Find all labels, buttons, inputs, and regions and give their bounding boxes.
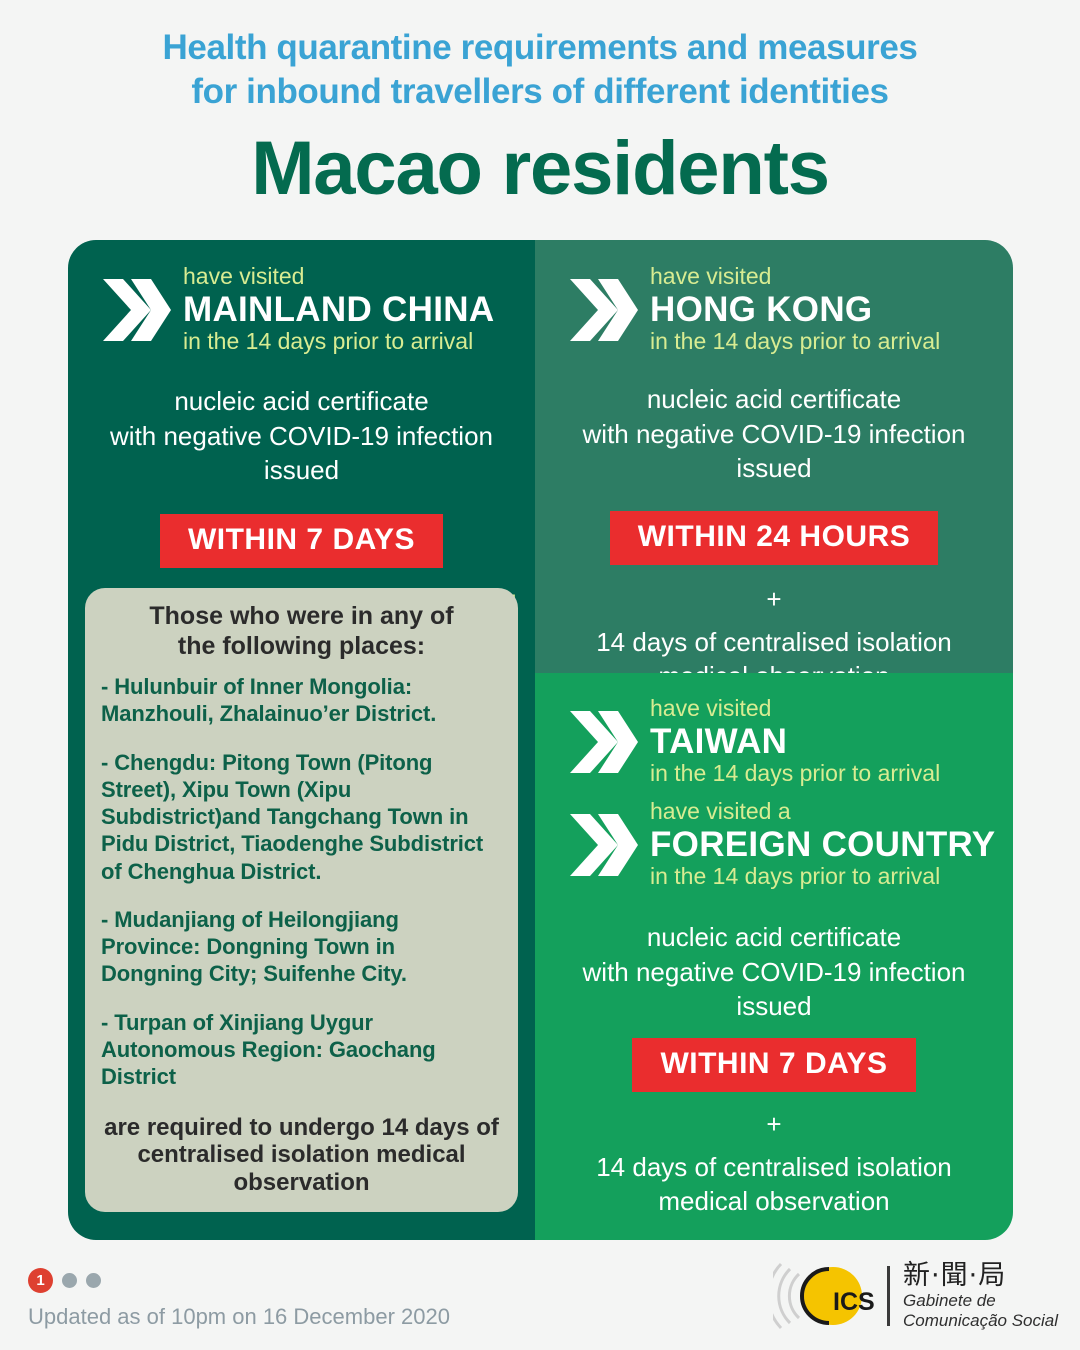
hong-kong-heading-text: have visited HONG KONG in the 14 days pr…	[650, 264, 999, 355]
mainland-china-panel: have visited MAINLAND CHINA in the 14 da…	[68, 240, 535, 1240]
requirement-line-2: with negative COVID-19 infection	[573, 955, 975, 990]
foreign-country-heading-text: have visited a FOREIGN COUNTRY in the 14…	[650, 799, 999, 890]
affected-places-list: - Hulunbuir of Inner Mongolia: Manzhouli…	[101, 673, 502, 1114]
logo-divider	[887, 1266, 890, 1326]
right-column: have visited HONG KONG in the 14 days pr…	[535, 240, 1013, 1240]
extra-line-2: medical observation	[573, 1184, 975, 1219]
svg-text:ICS: ICS	[833, 1288, 875, 1316]
foreign-country-heading: have visited a FOREIGN COUNTRY in the 14…	[535, 787, 1013, 890]
hong-kong-timeframe: in the 14 days prior to arrival	[650, 329, 999, 355]
requirement-line-3: issued	[573, 451, 975, 486]
taiwan-destination: TAIWAN	[650, 722, 999, 762]
hong-kong-destination: HONG KONG	[650, 290, 999, 330]
taiwan-foreign-panel: have visited TAIWAN in the 14 days prior…	[535, 673, 1013, 1240]
hong-kong-eyebrow: have visited	[650, 264, 999, 290]
status-badge: WITHIN 7 DAYS	[160, 514, 443, 568]
page-header: Health quarantine requirements and measu…	[0, 0, 1080, 207]
status-badge: WITHIN 7 DAYS	[632, 1038, 915, 1092]
hong-kong-panel: have visited HONG KONG in the 14 days pr…	[535, 240, 1013, 673]
double-chevron-right-icon	[568, 705, 640, 779]
logo-text: 新·聞·局 Gabinete de Comunicação Social	[903, 1261, 1058, 1331]
status-badge: WITHIN 24 HOURS	[610, 511, 939, 565]
page-indicator[interactable]: 1	[28, 1268, 450, 1293]
double-chevron-right-icon	[101, 273, 173, 347]
mainland-china-timeframe: in the 14 days prior to arrival	[183, 329, 521, 355]
logo-portuguese-line1: Gabinete de	[903, 1291, 1058, 1311]
header-subtitle-line2: for inbound travellers of different iden…	[40, 70, 1040, 114]
mainland-china-badge-wrap: WITHIN 7 DAYS	[68, 514, 535, 568]
list-item: - Hulunbuir of Inner Mongolia: Manzhouli…	[101, 673, 502, 728]
taiwan-heading: have visited TAIWAN in the 14 days prior…	[535, 673, 1013, 787]
page-title: Macao residents	[0, 131, 1080, 207]
plus-symbol: +	[535, 586, 1013, 612]
mainland-china-eyebrow: have visited	[183, 264, 521, 290]
requirement-line-2: with negative COVID-19 infection	[573, 417, 975, 452]
requirement-line-3: issued	[573, 989, 975, 1024]
page-indicator-dot[interactable]	[62, 1273, 77, 1288]
affected-places-title-line2: the following places:	[101, 632, 502, 662]
mainland-china-destination: MAINLAND CHINA	[183, 290, 521, 330]
hong-kong-requirement: nucleic acid certificate with negative C…	[535, 382, 1013, 486]
affected-places-box: Those who were in any of the following p…	[85, 588, 518, 1212]
hong-kong-heading: have visited HONG KONG in the 14 days pr…	[535, 240, 1013, 355]
requirement-line-2: with negative COVID-19 infection	[106, 419, 497, 454]
gcs-logo: ICS 新·聞·局 Gabinete de Comunicação Social	[773, 1258, 1058, 1334]
list-item: - Chengdu: Pitong Town (Pitong Street), …	[101, 749, 502, 885]
header-subtitle: Health quarantine requirements and measu…	[0, 26, 1080, 115]
foreign-country-destination: FOREIGN COUNTRY	[650, 825, 999, 865]
taiwan-foreign-extra: 14 days of centralised isolation medical…	[535, 1150, 1013, 1219]
taiwan-eyebrow: have visited	[650, 696, 999, 722]
taiwan-foreign-badge-wrap: WITHIN 7 DAYS	[535, 1038, 1013, 1092]
page-indicator-dot[interactable]	[86, 1273, 101, 1288]
requirement-line-1: nucleic acid certificate	[106, 384, 497, 419]
footer-left: 1 Updated as of 10pm on 16 December 2020	[28, 1268, 450, 1330]
header-subtitle-line1: Health quarantine requirements and measu…	[163, 28, 918, 67]
extra-line-1: 14 days of centralised isolation	[573, 625, 975, 660]
affected-places-title-line1: Those who were in any of	[101, 602, 502, 632]
affected-places-footer-line1: are required to undergo 14 days of	[101, 1114, 502, 1141]
taiwan-timeframe: in the 14 days prior to arrival	[650, 761, 999, 787]
affected-places-footer: are required to undergo 14 days of centr…	[101, 1114, 502, 1200]
taiwan-foreign-requirement: nucleic acid certificate with negative C…	[535, 920, 1013, 1024]
extra-line-1: 14 days of centralised isolation	[573, 1150, 975, 1185]
list-item: - Turpan of Xinjiang Uygur Autonomous Re…	[101, 1009, 502, 1091]
mainland-china-requirement: nucleic acid certificate with negative C…	[68, 384, 535, 488]
taiwan-heading-text: have visited TAIWAN in the 14 days prior…	[650, 696, 999, 787]
foreign-country-eyebrow: have visited a	[650, 799, 999, 825]
double-chevron-right-icon	[568, 808, 640, 882]
list-item: - Mudanjiang of Heilongjiang Province: D…	[101, 906, 502, 988]
requirement-line-3: issued	[106, 453, 497, 488]
logo-portuguese-line2: Comunicação Social	[903, 1311, 1058, 1331]
updated-timestamp: Updated as of 10pm on 16 December 2020	[28, 1304, 450, 1330]
gcs-logo-mark-icon: ICS	[773, 1258, 883, 1334]
mainland-china-heading-text: have visited MAINLAND CHINA in the 14 da…	[183, 264, 521, 355]
hong-kong-badge-wrap: WITHIN 24 HOURS	[535, 511, 1013, 565]
double-chevron-right-icon	[568, 273, 640, 347]
requirements-card: have visited MAINLAND CHINA in the 14 da…	[68, 240, 1013, 1240]
requirement-line-1: nucleic acid certificate	[573, 382, 975, 417]
affected-places-title: Those who were in any of the following p…	[101, 602, 502, 661]
plus-symbol: +	[535, 1111, 1013, 1137]
affected-places-footer-line2: centralised isolation medical observatio…	[101, 1141, 502, 1196]
foreign-country-timeframe: in the 14 days prior to arrival	[650, 864, 999, 890]
requirement-line-1: nucleic acid certificate	[573, 920, 975, 955]
mainland-china-heading: have visited MAINLAND CHINA in the 14 da…	[68, 240, 535, 355]
logo-chinese-name: 新·聞·局	[903, 1261, 1058, 1291]
page-indicator-current[interactable]: 1	[28, 1268, 53, 1293]
